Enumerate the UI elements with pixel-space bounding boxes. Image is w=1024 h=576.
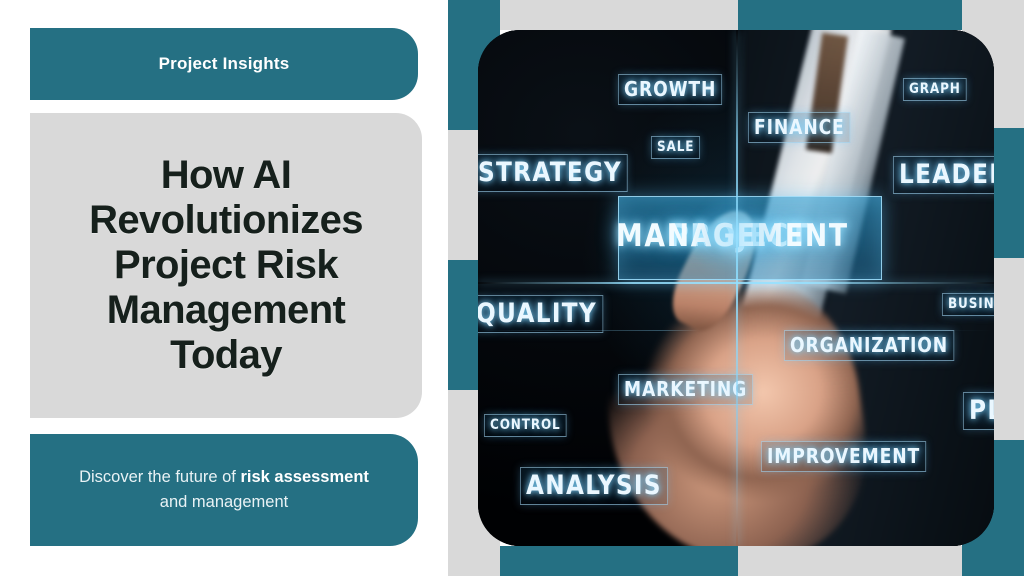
- keyword-chip: IMPROVEMENT: [761, 441, 926, 472]
- keyword-chip: CONTROL: [484, 414, 567, 437]
- eyebrow-badge: Project Insights: [30, 28, 418, 100]
- hud-vertical-line: [736, 30, 738, 546]
- keyword-chip: BUSINESS: [942, 293, 994, 316]
- page-title: How AI Revolutionizes Project Risk Manag…: [30, 153, 422, 379]
- keyword-chip: ORGANIZATION: [784, 330, 954, 361]
- subtitle-part-2: and management: [160, 493, 288, 511]
- keyword-chip: GROWTH: [618, 74, 722, 105]
- keyword-chip: MARKETING: [618, 374, 753, 405]
- subtitle-part-1: Discover the future of: [79, 468, 240, 486]
- decor-top-2: [738, 0, 962, 30]
- decor-top-1: [500, 0, 738, 30]
- keyword-chip: GRAPH: [903, 78, 967, 101]
- project-management-touchscreen-photo: GROWTHSALEFINANCEGRAPHSTRATEGYLEADERSHIP…: [478, 30, 994, 546]
- keyword-chip: ANALYSIS: [520, 467, 668, 505]
- eyebrow-label: Project Insights: [159, 54, 290, 74]
- subtitle-text: Discover the future of risk assessment a…: [30, 465, 418, 515]
- slide-canvas: Project Insights How AI Revolutionizes P…: [0, 0, 1024, 576]
- subtitle-bar: Discover the future of risk assessment a…: [30, 434, 418, 546]
- keyword-chip: PLAN: [963, 392, 994, 430]
- keyword-chip: QUALITY: [478, 295, 603, 333]
- keyword-chip: FINANCE: [748, 112, 851, 143]
- title-card: How AI Revolutionizes Project Risk Manag…: [30, 113, 422, 418]
- decor-bottom-2: [738, 546, 962, 576]
- keyword-chip: STRATEGY: [478, 154, 628, 192]
- fingertip-glow: [690, 190, 786, 286]
- subtitle-highlight: risk assessment: [240, 468, 368, 486]
- keyword-chip: SALE: [651, 136, 700, 159]
- decor-bottom-1: [500, 546, 738, 576]
- keyword-chip: LEADERSHIP: [893, 156, 994, 194]
